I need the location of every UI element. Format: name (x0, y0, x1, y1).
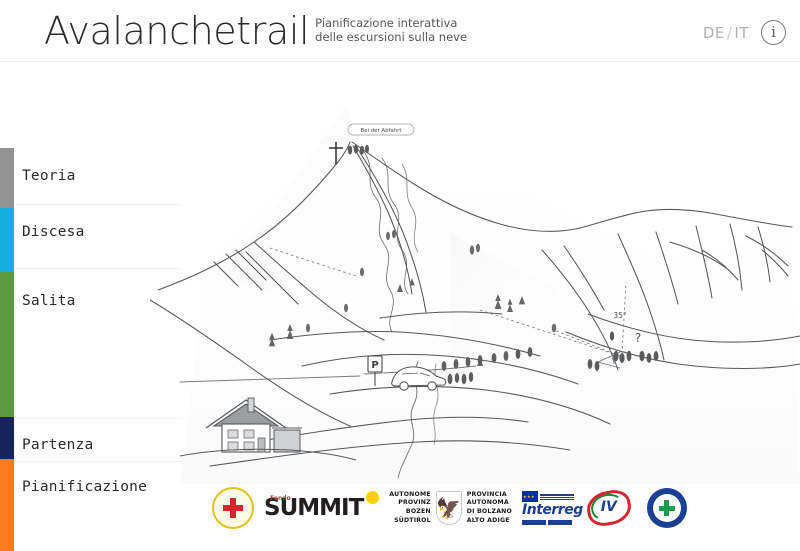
page-subtitle: Pianificazione interattiva delle escursi… (315, 16, 467, 44)
province-italian-text: PROVINCIA AUTONOMA DI BOLZANO ALTO ADIGE (467, 491, 512, 525)
question-mark-label: ? (635, 331, 641, 345)
summit-logo-small-word: Fondo (270, 486, 291, 512)
province-de-line-2: PROVINZ (389, 499, 431, 508)
brand: Avalanchetrail Pianificazione interattiv… (44, 8, 467, 54)
summit-label-text: Bei der Abfahrt (361, 128, 402, 134)
bergrettung-logo (647, 488, 687, 528)
page-title: Avalanchetrail (44, 8, 309, 54)
subtitle-line-2: delle escursioni sulla neve (315, 30, 467, 44)
province-it-line-2: AUTONOMA (467, 499, 512, 508)
app-root: Avalanchetrail Pianificazione interattiv… (0, 0, 800, 551)
eu-emblem (522, 491, 583, 502)
partner-logo-bar: Fondo SUMMIT AUTONOME PROVINZ BOZEN SÜDT… (180, 478, 800, 538)
cai-alpenverein-logo (212, 487, 254, 529)
subtitle-line-1: Pianificazione interattiva (315, 16, 467, 30)
discesa-color-segment[interactable] (0, 208, 14, 272)
rescue-cross-icon (659, 500, 675, 516)
province-german-text: AUTONOME PROVINZ BOZEN SÜDTIROL (389, 491, 431, 525)
language-separator: / (727, 24, 733, 42)
tyrol-eagle-shield-icon: 🦅 (436, 491, 462, 525)
eagle-glyph: 🦅 (436, 498, 461, 518)
language-option-de[interactable]: DE (703, 24, 725, 42)
province-de-line-4: SÜDTIROL (389, 517, 431, 526)
partenza-color-segment[interactable] (0, 417, 14, 459)
language-switcher[interactable]: DE/IT (703, 24, 749, 42)
page-header: Avalanchetrail Pianificazione interattiv… (0, 0, 800, 62)
mountain-illustration[interactable]: Bei der Abfahrt (150, 64, 800, 484)
province-it-line-3: DI BOLZANO (467, 508, 512, 517)
progress-color-bar (0, 148, 14, 551)
info-circle-icon[interactable]: i (761, 20, 786, 45)
salita-color-segment[interactable] (0, 272, 14, 417)
slope-angle-text: 35° (613, 311, 627, 320)
header-actions: DE/IT i (703, 20, 786, 45)
teoria-color-segment[interactable] (0, 148, 14, 208)
autonome-provinz-bozen-logo: AUTONOME PROVINZ BOZEN SÜDTIROL 🦅 PROVIN… (389, 491, 512, 525)
info-icon-glyph: i (771, 25, 776, 40)
interreg-swoosh-icon: IV (585, 488, 637, 528)
pianificazione-color-segment[interactable] (0, 459, 14, 551)
parking-sign-letter: P (371, 360, 378, 371)
interreg-wordmark: Interreg (522, 503, 583, 518)
language-option-it[interactable]: IT (734, 24, 749, 42)
province-it-line-1: PROVINCIA (467, 491, 512, 500)
interreg-underbars (522, 520, 583, 525)
province-de-line-1: AUTONOME (389, 491, 431, 500)
province-de-line-3: BOZEN (389, 508, 431, 517)
province-it-line-4: ALTO ADIGE (467, 517, 512, 526)
interreg-numeral: IV (601, 499, 617, 515)
summit-logo: Fondo SUMMIT (264, 495, 379, 521)
sun-icon (366, 491, 379, 504)
interreg-iv-logo: Interreg IV (522, 488, 637, 528)
eu-text-lines (540, 494, 574, 500)
eu-flag-icon (522, 491, 538, 502)
alpine-cross-icon (223, 498, 243, 518)
